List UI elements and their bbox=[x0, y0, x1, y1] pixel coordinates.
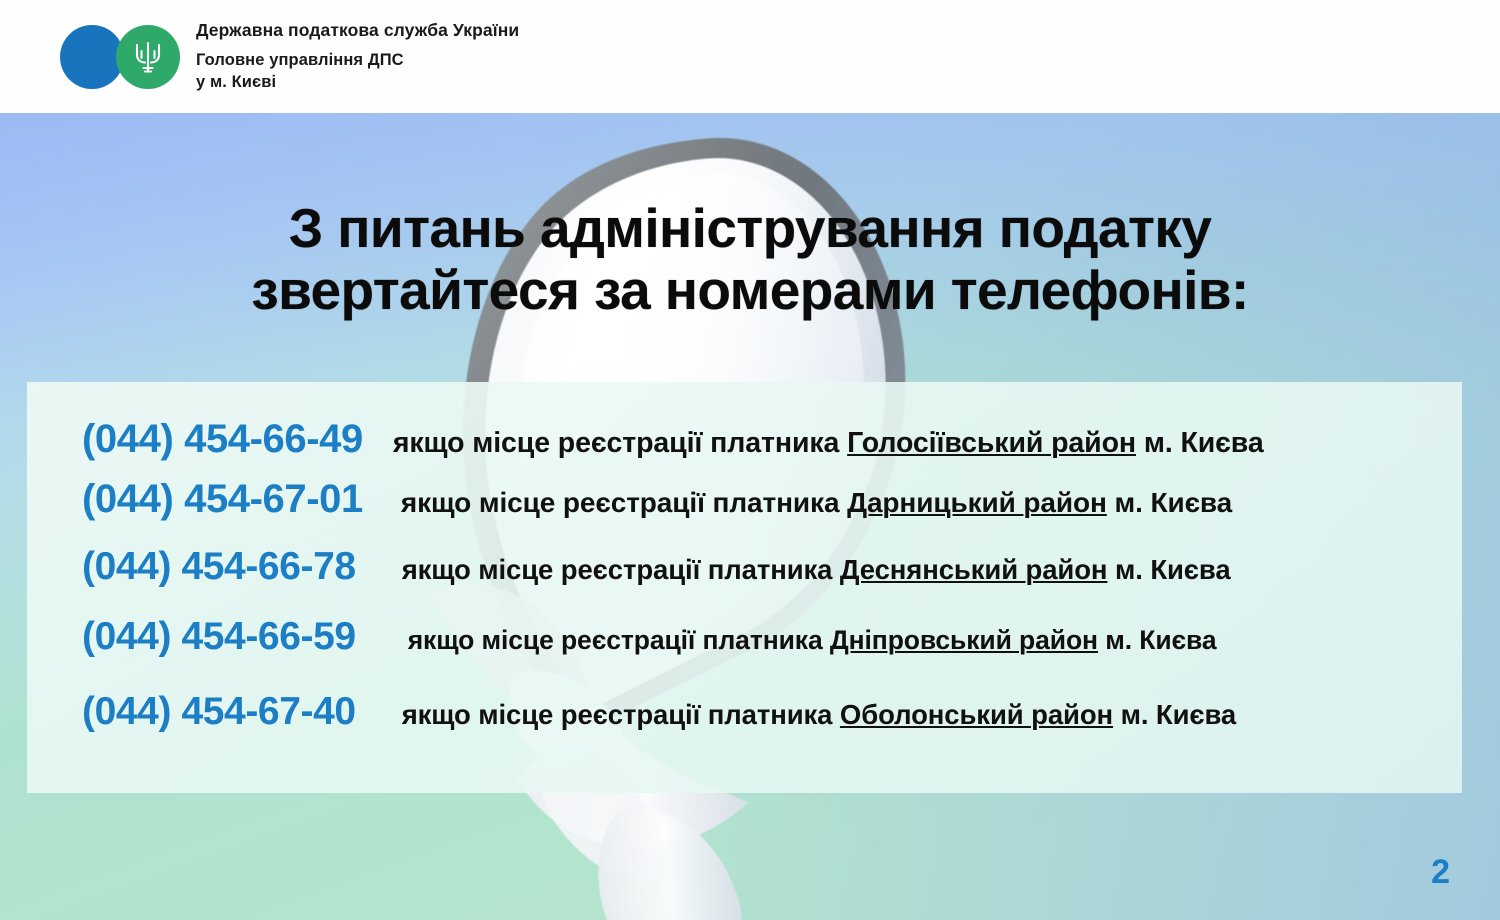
desc-suffix: м. Києва bbox=[1113, 699, 1236, 730]
phone-number[interactable]: (044) 454-67-40 bbox=[82, 690, 356, 734]
desc-prefix: якщо місце реєстрації платника bbox=[408, 625, 830, 655]
logo-green-circle-icon bbox=[116, 25, 180, 89]
desc-suffix: м. Києва bbox=[1098, 625, 1217, 655]
district-name: Дарницький район bbox=[847, 487, 1107, 518]
org-name-primary: Державна податкова служба України bbox=[196, 20, 519, 42]
page-title-line1: З питань адміністрування податку bbox=[289, 197, 1212, 259]
slide-background: З питань адміністрування податку звертай… bbox=[0, 113, 1500, 920]
page-number: 2 bbox=[1431, 853, 1450, 892]
phone-number[interactable]: (044) 454-66-49 bbox=[82, 417, 363, 462]
desc-prefix: якщо місце реєстрації платника bbox=[402, 554, 840, 585]
org-name-secondary: Головне управління ДПС у м. Києві bbox=[196, 49, 519, 94]
header-text-block: Державна податкова служба України Головн… bbox=[196, 20, 519, 93]
desc-prefix: якщо місце реєстрації платника bbox=[401, 487, 847, 518]
header-bar: Державна податкова служба України Головн… bbox=[0, 0, 1500, 113]
contacts-list: (044) 454-66-49 якщо місце реєстрації пл… bbox=[27, 382, 1462, 793]
desc-suffix: м. Києва bbox=[1136, 427, 1264, 459]
district-name: Деснянський район bbox=[840, 554, 1108, 585]
phone-number[interactable]: (044) 454-66-78 bbox=[82, 545, 356, 589]
contact-row: (044) 454-67-01 якщо місце реєстрації пл… bbox=[27, 477, 1462, 522]
contact-description: якщо місце реєстрації платника Оболонськ… bbox=[402, 699, 1236, 731]
desc-prefix: якщо місце реєстрації платника bbox=[402, 699, 840, 730]
contact-row: (044) 454-67-40 якщо місце реєстрації пл… bbox=[27, 690, 1462, 734]
district-name: Голосіївський район bbox=[847, 427, 1136, 459]
contact-row: (044) 454-66-49 якщо місце реєстрації пл… bbox=[27, 417, 1462, 462]
logo bbox=[58, 23, 188, 91]
contacts-panel: (044) 454-66-49 якщо місце реєстрації пл… bbox=[27, 382, 1462, 793]
trident-icon bbox=[133, 38, 163, 76]
district-name: Дніпровський район bbox=[830, 625, 1098, 655]
contact-description: якщо місце реєстрації платника Деснянськ… bbox=[402, 554, 1231, 586]
district-name: Оболонський район bbox=[840, 699, 1113, 730]
desc-suffix: м. Києва bbox=[1107, 554, 1230, 585]
contact-row: (044) 454-66-59 якщо місце реєстрації пл… bbox=[27, 615, 1462, 659]
contact-description: якщо місце реєстрації платника Дарницьки… bbox=[401, 487, 1232, 519]
contact-description: якщо місце реєстрації платника Дніпровсь… bbox=[408, 625, 1217, 656]
contact-description: якщо місце реєстрації платника Голосіївс… bbox=[393, 427, 1264, 460]
desc-suffix: м. Києва bbox=[1107, 487, 1232, 518]
phone-number[interactable]: (044) 454-66-59 bbox=[82, 615, 356, 659]
contact-row: (044) 454-66-78 якщо місце реєстрації пл… bbox=[27, 545, 1462, 589]
page-title: З питань адміністрування податку звертай… bbox=[0, 198, 1500, 321]
logo-blue-circle-icon bbox=[60, 25, 124, 89]
slide: Державна податкова служба України Головн… bbox=[0, 0, 1500, 920]
desc-prefix: якщо місце реєстрації платника bbox=[393, 427, 847, 459]
page-title-line2: звертайтеся за номерами телефонів: bbox=[0, 260, 1500, 322]
phone-number[interactable]: (044) 454-67-01 bbox=[82, 477, 363, 522]
